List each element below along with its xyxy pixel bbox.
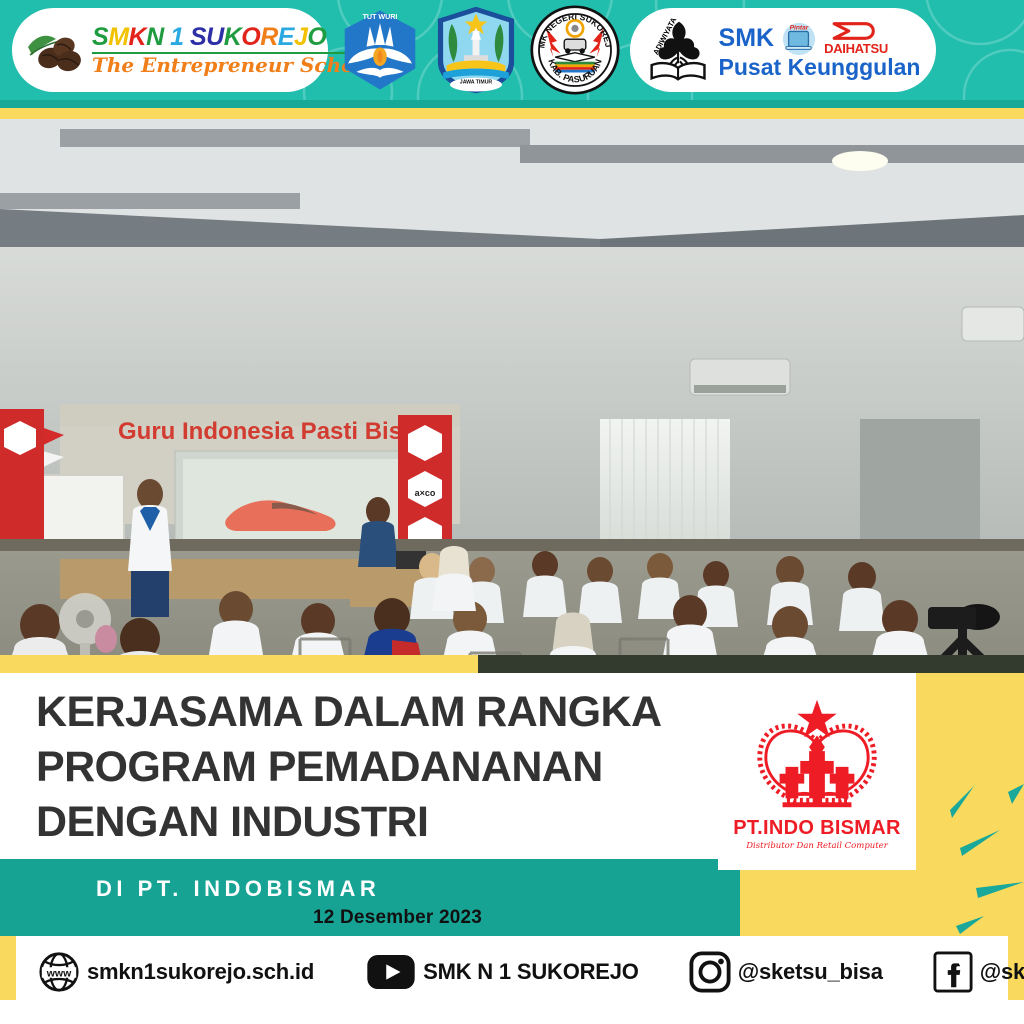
- school-tagline: The Entrepreneur School: [92, 55, 375, 75]
- subtitle-text: DI PT. INDOBISMAR: [96, 876, 380, 902]
- subtitle-bar: DI PT. INDOBISMAR 12 Desember 2023: [0, 859, 740, 936]
- room-banner-text: Guru Indonesia Pasti Bisa: [118, 418, 416, 445]
- footer-website-label: smkn1sukorejo.sch.id: [87, 959, 314, 985]
- title-line-2: PROGRAM PEMADANANAN: [36, 740, 736, 795]
- svg-text:Pintar: Pintar: [790, 24, 809, 31]
- partner-logo-name: PT.INDO BISMAR: [733, 818, 901, 838]
- tut-wuri-handayani-emblem: TUT WURI: [338, 8, 422, 92]
- partner-logo-tagline: Distributor Dan Retail Computer: [746, 841, 888, 851]
- header-bar: SMKN 1 SUKOREJO The Entrepreneur School …: [0, 0, 1024, 100]
- footer-instagram[interactable]: @sketsu_bisa: [689, 951, 883, 993]
- title-line-3: DENGAN INDUSTRI: [36, 795, 736, 850]
- globe-www-icon: www: [38, 951, 80, 993]
- event-date: 12 Desember 2023: [313, 907, 482, 929]
- footer-youtube-label: SMK N 1 SUKOREJO: [423, 959, 639, 985]
- smk-pusat-keunggulan-badge: ADIWIYATA SMK Pintar: [630, 8, 936, 92]
- svg-text:www: www: [46, 967, 72, 979]
- crown-star-icon: [733, 696, 901, 820]
- poster-canvas: SMKN 1 SUKOREJO The Entrepreneur School …: [0, 0, 1024, 1024]
- smk-label: SMK: [719, 26, 775, 51]
- seminar-room-illustration: Guru Indonesia Pasti Bisa a×co: [0, 119, 1024, 672]
- coffee-beans-icon: [26, 25, 84, 75]
- footer-facebook-label: @sketsu.bisa: [980, 959, 1024, 985]
- school-name: SMKN 1 SUKOREJO: [92, 25, 375, 50]
- footer-youtube[interactable]: SMK N 1 SUKOREJO: [366, 954, 639, 990]
- title-line-1: KERJASAMA DALAM RANGKA: [36, 685, 736, 740]
- footer-facebook[interactable]: @sketsu.bisa: [933, 951, 1024, 993]
- teal-divider-band: [0, 100, 1024, 108]
- event-photo: Guru Indonesia Pasti Bisa a×co: [0, 119, 1024, 672]
- instagram-icon: [689, 951, 731, 993]
- page-title: KERJASAMA DALAM RANGKA PROGRAM PEMADANAN…: [36, 685, 736, 850]
- footer-instagram-label: @sketsu_bisa: [738, 959, 883, 985]
- bottom-white-edge: [0, 1008, 1024, 1024]
- school-logo: SMKN 1 SUKOREJO The Entrepreneur School: [12, 8, 328, 92]
- svg-text:a×co: a×co: [415, 488, 436, 498]
- youtube-icon: [366, 954, 416, 990]
- teal-spark-decoration: [916, 770, 1024, 936]
- svg-text:JAWA TIMUR: JAWA TIMUR: [460, 80, 493, 86]
- footer-bar: www smkn1sukorejo.sch.id SMK N 1 SUKOREJ…: [16, 936, 1008, 1008]
- yellow-divider-band: [0, 108, 1024, 119]
- facebook-icon: [933, 951, 973, 993]
- adiwiyata-icon: ADIWIYATA: [646, 16, 712, 84]
- smk-negeri-sukorejo-emblem: SMK NEGERI SUKOREJO KAB. PASURUAN: [530, 5, 620, 95]
- svg-text:TUT WURI: TUT WURI: [363, 13, 398, 21]
- rumah-belajar-pintar-icon: Pintar: [780, 22, 818, 56]
- daihatsu-logo-icon: [830, 21, 882, 41]
- title-dark-strip: [478, 655, 1024, 673]
- east-java-province-emblem: JAWA TIMUR: [432, 5, 520, 95]
- pusat-keunggulan-label: Pusat Keunggulan: [719, 56, 921, 79]
- title-yellow-strip: [0, 655, 478, 673]
- footer-website[interactable]: www smkn1sukorejo.sch.id: [38, 951, 314, 993]
- partner-logo: PT.INDO BISMAR Distributor Dan Retail Co…: [718, 690, 916, 870]
